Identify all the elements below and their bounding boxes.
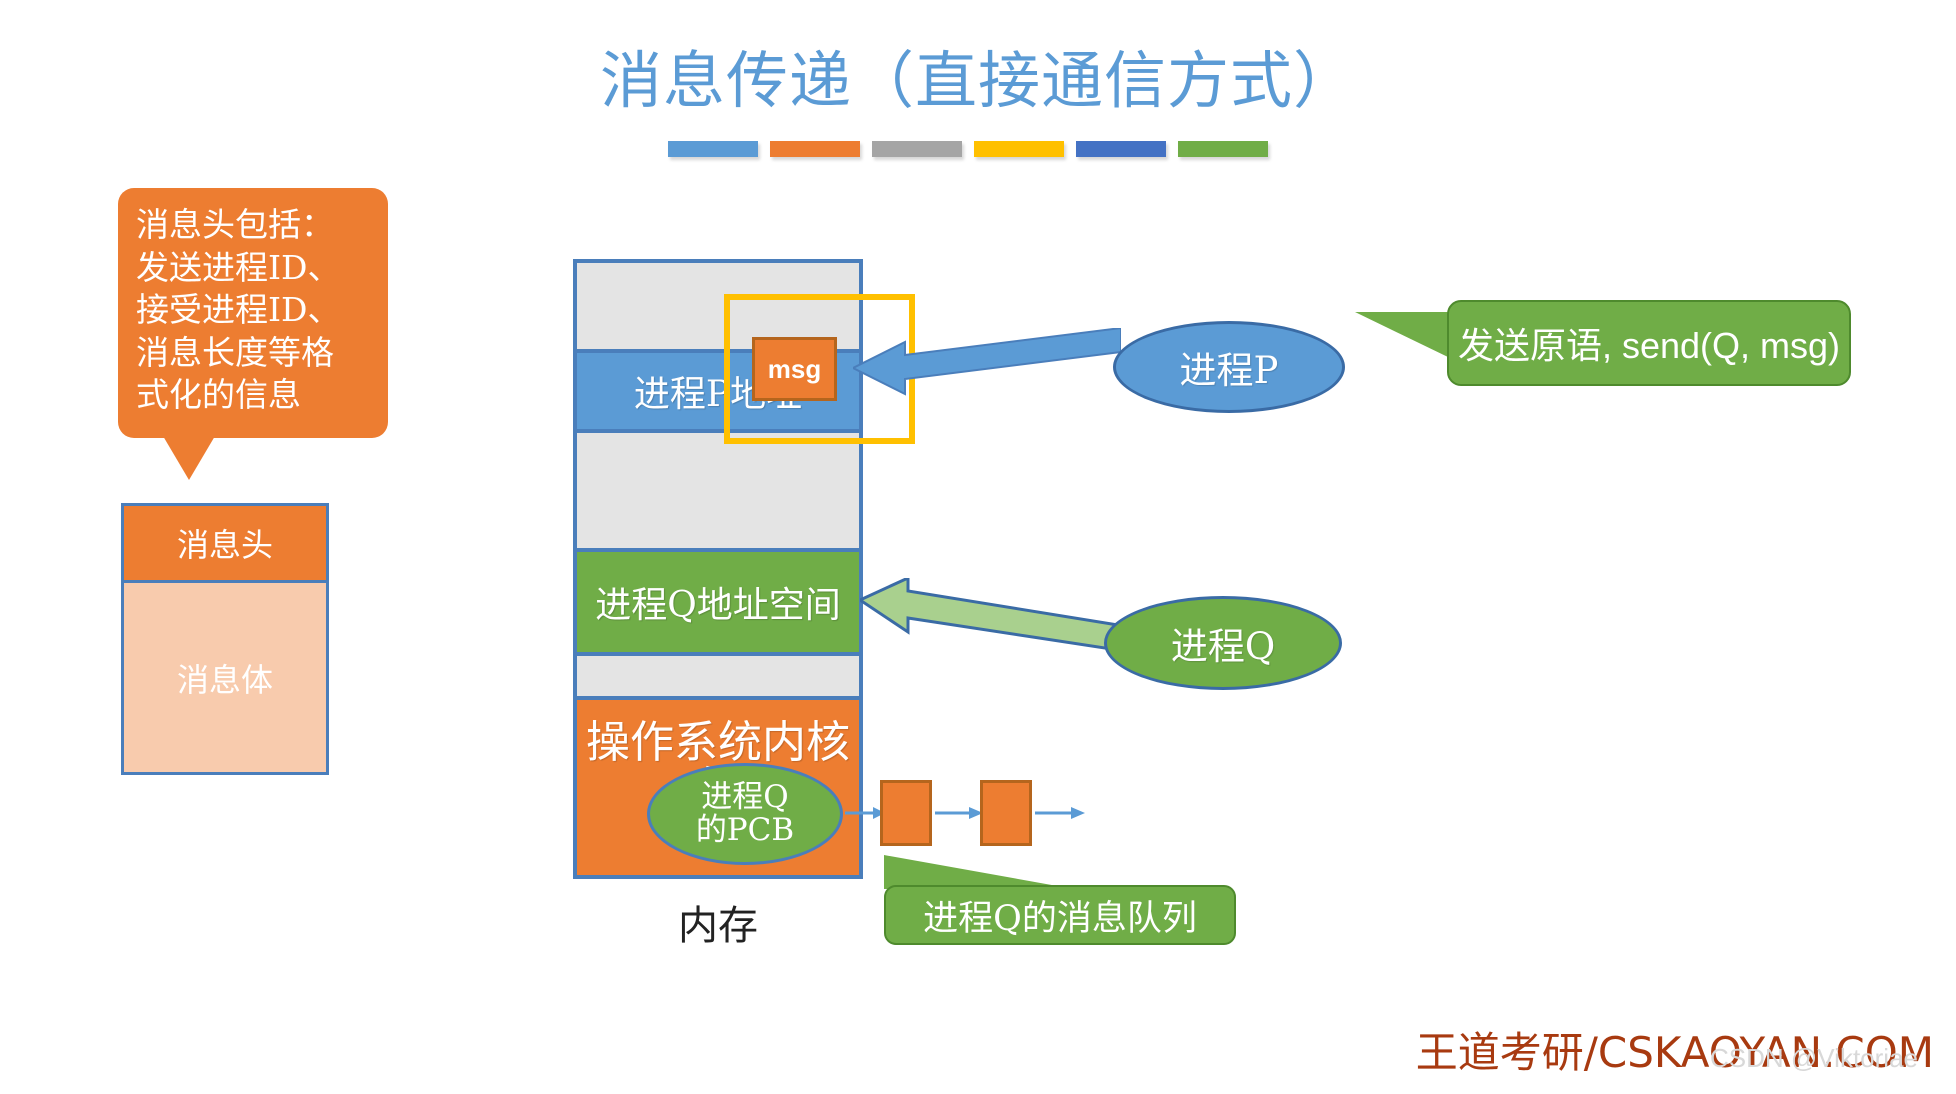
queue-arrow-0 (845, 806, 885, 820)
accent-segment-5 (1076, 141, 1166, 157)
accent-segment-3 (872, 141, 962, 157)
brand-footer: 王道考研/CSKAOYAN.COM (1416, 1019, 1934, 1080)
title-accent-bar (668, 141, 1268, 159)
send-callout-tail-icon (1355, 312, 1450, 358)
message-structure-diagram: 消息头 消息体 (121, 503, 329, 775)
message-body-block: 消息体 (121, 583, 329, 775)
memory-caption: 内存 (573, 893, 863, 951)
accent-segment-1 (668, 141, 758, 157)
queue-callout-tail-icon (884, 855, 1074, 889)
send-primitive-callout: 发送原语, send(Q, msg) (1447, 300, 1851, 386)
accent-segment-6 (1178, 141, 1268, 157)
page-title: 消息传递（直接通信方式） (0, 30, 1956, 120)
queue-arrow-1 (935, 806, 983, 820)
arrow-process-q-to-memory (860, 578, 1118, 654)
queue-arrow-2 (1035, 806, 1085, 820)
message-head-block: 消息头 (121, 503, 329, 583)
message-header-callout: 消息头包括： 发送进程ID、 接受进程ID、 消息长度等格 式化的信息 (118, 188, 388, 438)
memory-band-process-q: 进程Q地址空间 (577, 548, 859, 656)
queue-message-box-1 (880, 780, 932, 846)
slide-canvas: 消息传递（直接通信方式） 消息头包括： 发送进程ID、 接受进程ID、 消息长度… (0, 0, 1956, 1094)
callout-tail-icon (163, 436, 215, 480)
message-queue-callout: 进程Q的消息队列 (884, 885, 1236, 945)
process-q-ellipse: 进程Q (1104, 596, 1342, 690)
accent-segment-4 (974, 141, 1064, 157)
accent-segment-2 (770, 141, 860, 157)
queue-message-box-2 (980, 780, 1032, 846)
process-q-pcb-ellipse: 进程Q 的PCB (647, 763, 843, 865)
arrow-process-p-to-memory (853, 328, 1121, 398)
process-p-ellipse: 进程P (1113, 321, 1345, 413)
